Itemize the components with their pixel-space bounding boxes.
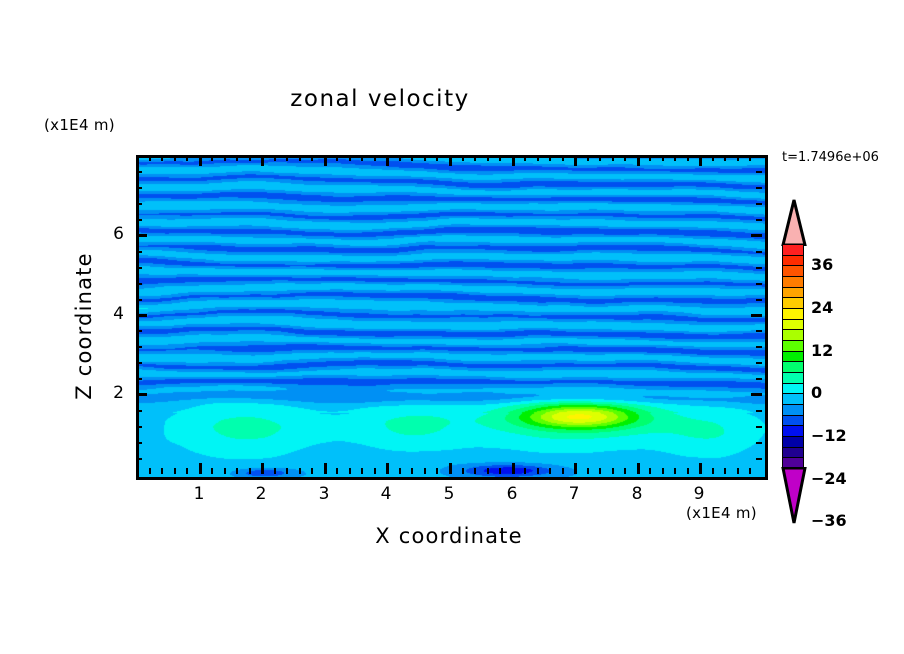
x-minor-tick [161, 468, 163, 474]
y-minor-tick-right [756, 362, 762, 364]
x-axis-title: X coordinate [136, 524, 762, 548]
x-minor-tick-top [499, 155, 501, 161]
y-axis-units-label: (x1E4 m) [44, 116, 115, 134]
x-minor-tick [462, 468, 464, 474]
x-minor-tick-top [161, 155, 163, 161]
x-minor-tick [474, 468, 476, 474]
x-minor-tick-top [274, 155, 276, 161]
y-tick-label: 4 [94, 304, 124, 324]
x-minor-tick [737, 468, 739, 474]
y-major-tick-right [751, 393, 762, 396]
x-minor-tick-top [537, 155, 539, 161]
x-minor-tick [712, 468, 714, 474]
colorbar-tick-label: 24 [811, 298, 833, 317]
x-minor-tick [286, 468, 288, 474]
x-major-tick-top [261, 155, 264, 166]
y-minor-tick [136, 203, 142, 205]
x-minor-tick-top [612, 155, 614, 161]
x-major-tick [699, 463, 702, 474]
x-minor-tick-top [399, 155, 401, 161]
y-minor-tick-right [756, 219, 762, 221]
y-minor-tick [136, 187, 142, 189]
x-minor-tick-top [624, 155, 626, 161]
x-major-tick [386, 463, 389, 474]
y-major-tick [136, 314, 147, 317]
x-minor-tick-top [149, 155, 151, 161]
x-tick-label: 6 [497, 484, 527, 504]
x-major-tick [199, 463, 202, 474]
x-major-tick-top [199, 155, 202, 166]
x-minor-tick [361, 468, 363, 474]
y-minor-tick-right [756, 267, 762, 269]
colorbar-tick-label: 0 [811, 383, 822, 402]
x-major-tick-top [637, 155, 640, 166]
x-minor-tick [299, 468, 301, 474]
y-minor-tick-right [756, 330, 762, 332]
x-minor-tick-top [174, 155, 176, 161]
y-major-tick [136, 393, 147, 396]
x-minor-tick-top [411, 155, 413, 161]
x-minor-tick [499, 468, 501, 474]
x-minor-tick-top [474, 155, 476, 161]
x-minor-tick-top [224, 155, 226, 161]
x-minor-tick-top [649, 155, 651, 161]
x-major-tick [512, 463, 515, 474]
x-minor-tick-top [737, 155, 739, 161]
x-minor-tick [487, 468, 489, 474]
x-minor-tick [224, 468, 226, 474]
x-minor-tick-top [549, 155, 551, 161]
x-minor-tick [549, 468, 551, 474]
x-major-tick-top [699, 155, 702, 166]
x-tick-label: 1 [184, 484, 214, 504]
x-minor-tick [662, 468, 664, 474]
y-minor-tick [136, 442, 142, 444]
time-annotation: t=1.7496e+06 [782, 150, 879, 165]
y-major-tick [136, 234, 147, 237]
x-major-tick-top [324, 155, 327, 166]
x-minor-tick-top [424, 155, 426, 161]
x-tick-label: 9 [684, 484, 714, 504]
x-minor-tick-top [211, 155, 213, 161]
y-minor-tick-right [756, 346, 762, 348]
y-minor-tick [136, 219, 142, 221]
y-minor-tick [136, 330, 142, 332]
y-minor-tick [136, 458, 142, 460]
y-minor-tick [136, 251, 142, 253]
page-title: zonal velocity [0, 86, 760, 112]
y-axis-title: Z coordinate [72, 216, 96, 436]
x-minor-tick-top [236, 155, 238, 161]
colorbar-tick-label: 12 [811, 341, 833, 360]
x-minor-tick [649, 468, 651, 474]
x-minor-tick [349, 468, 351, 474]
y-minor-tick-right [756, 187, 762, 189]
y-minor-tick-right [756, 410, 762, 412]
x-major-tick [261, 463, 264, 474]
x-minor-tick [587, 468, 589, 474]
x-minor-tick [424, 468, 426, 474]
x-tick-label: 4 [371, 484, 401, 504]
x-minor-tick-top [361, 155, 363, 161]
y-minor-tick-right [756, 442, 762, 444]
x-tick-label: 3 [309, 484, 339, 504]
x-minor-tick [336, 468, 338, 474]
x-minor-tick [674, 468, 676, 474]
x-minor-tick [537, 468, 539, 474]
colorbar: 3624120−12−24−36 [779, 198, 809, 524]
contour-plot-figure: zonal velocity (x1E4 m) t=1.7496e+06 Z c… [0, 0, 904, 654]
x-major-tick [324, 463, 327, 474]
x-minor-tick-top [487, 155, 489, 161]
colorbar-under-range-arrow [779, 467, 809, 525]
x-minor-tick-top [724, 155, 726, 161]
x-minor-tick [211, 468, 213, 474]
x-minor-tick-top [374, 155, 376, 161]
y-minor-tick-right [756, 171, 762, 173]
y-minor-tick-right [756, 299, 762, 301]
y-minor-tick [136, 426, 142, 428]
y-minor-tick-right [756, 378, 762, 380]
y-major-tick-right [751, 234, 762, 237]
x-minor-tick-top [749, 155, 751, 161]
x-minor-tick-top [712, 155, 714, 161]
x-minor-tick [436, 468, 438, 474]
x-axis-units-label: (x1E4 m) [686, 504, 757, 522]
x-minor-tick [174, 468, 176, 474]
x-minor-tick-top [436, 155, 438, 161]
x-minor-tick-top [462, 155, 464, 161]
y-minor-tick-right [756, 283, 762, 285]
x-minor-tick [724, 468, 726, 474]
y-minor-tick [136, 267, 142, 269]
x-minor-tick [249, 468, 251, 474]
x-major-tick-top [574, 155, 577, 166]
x-minor-tick [374, 468, 376, 474]
x-tick-label: 5 [434, 484, 464, 504]
colorbar-over-range-arrow [779, 198, 809, 246]
x-minor-tick [749, 468, 751, 474]
x-minor-tick-top [674, 155, 676, 161]
y-minor-tick [136, 299, 142, 301]
x-major-tick [637, 463, 640, 474]
x-major-tick [449, 463, 452, 474]
x-minor-tick [599, 468, 601, 474]
x-minor-tick [562, 468, 564, 474]
x-minor-tick-top [562, 155, 564, 161]
y-minor-tick [136, 378, 142, 380]
x-minor-tick-top [662, 155, 664, 161]
x-major-tick-top [386, 155, 389, 166]
x-minor-tick-top [524, 155, 526, 161]
colorbar-tick-label: −36 [811, 511, 847, 530]
x-tick-label: 8 [622, 484, 652, 504]
colorbar-tick-label: 36 [811, 255, 833, 274]
x-minor-tick-top [299, 155, 301, 161]
y-minor-tick [136, 410, 142, 412]
x-minor-tick [524, 468, 526, 474]
y-tick-label: 2 [94, 383, 124, 403]
y-minor-tick [136, 346, 142, 348]
x-major-tick-top [449, 155, 452, 166]
y-major-tick-right [751, 314, 762, 317]
x-minor-tick-top [687, 155, 689, 161]
y-minor-tick-right [756, 203, 762, 205]
y-minor-tick [136, 171, 142, 173]
plot-area [136, 155, 768, 480]
x-minor-tick [399, 468, 401, 474]
x-tick-label: 2 [246, 484, 276, 504]
x-tick-label: 7 [559, 484, 589, 504]
y-minor-tick-right [756, 458, 762, 460]
colorbar-tick-label: −24 [811, 469, 847, 488]
x-minor-tick [274, 468, 276, 474]
x-minor-tick [236, 468, 238, 474]
x-minor-tick-top [311, 155, 313, 161]
x-minor-tick-top [186, 155, 188, 161]
x-minor-tick [149, 468, 151, 474]
x-minor-tick [311, 468, 313, 474]
y-minor-tick-right [756, 251, 762, 253]
x-minor-tick-top [249, 155, 251, 161]
x-major-tick-top [512, 155, 515, 166]
x-minor-tick-top [336, 155, 338, 161]
colorbar-tick-label: −12 [811, 426, 847, 445]
y-minor-tick [136, 362, 142, 364]
y-minor-tick-right [756, 426, 762, 428]
x-major-tick [574, 463, 577, 474]
y-minor-tick [136, 283, 142, 285]
x-minor-tick-top [286, 155, 288, 161]
x-minor-tick [687, 468, 689, 474]
x-minor-tick-top [599, 155, 601, 161]
x-minor-tick [624, 468, 626, 474]
x-minor-tick [411, 468, 413, 474]
x-minor-tick [186, 468, 188, 474]
x-minor-tick [612, 468, 614, 474]
x-minor-tick-top [349, 155, 351, 161]
y-tick-label: 6 [94, 224, 124, 244]
contour-field-canvas [139, 158, 765, 477]
x-minor-tick-top [587, 155, 589, 161]
